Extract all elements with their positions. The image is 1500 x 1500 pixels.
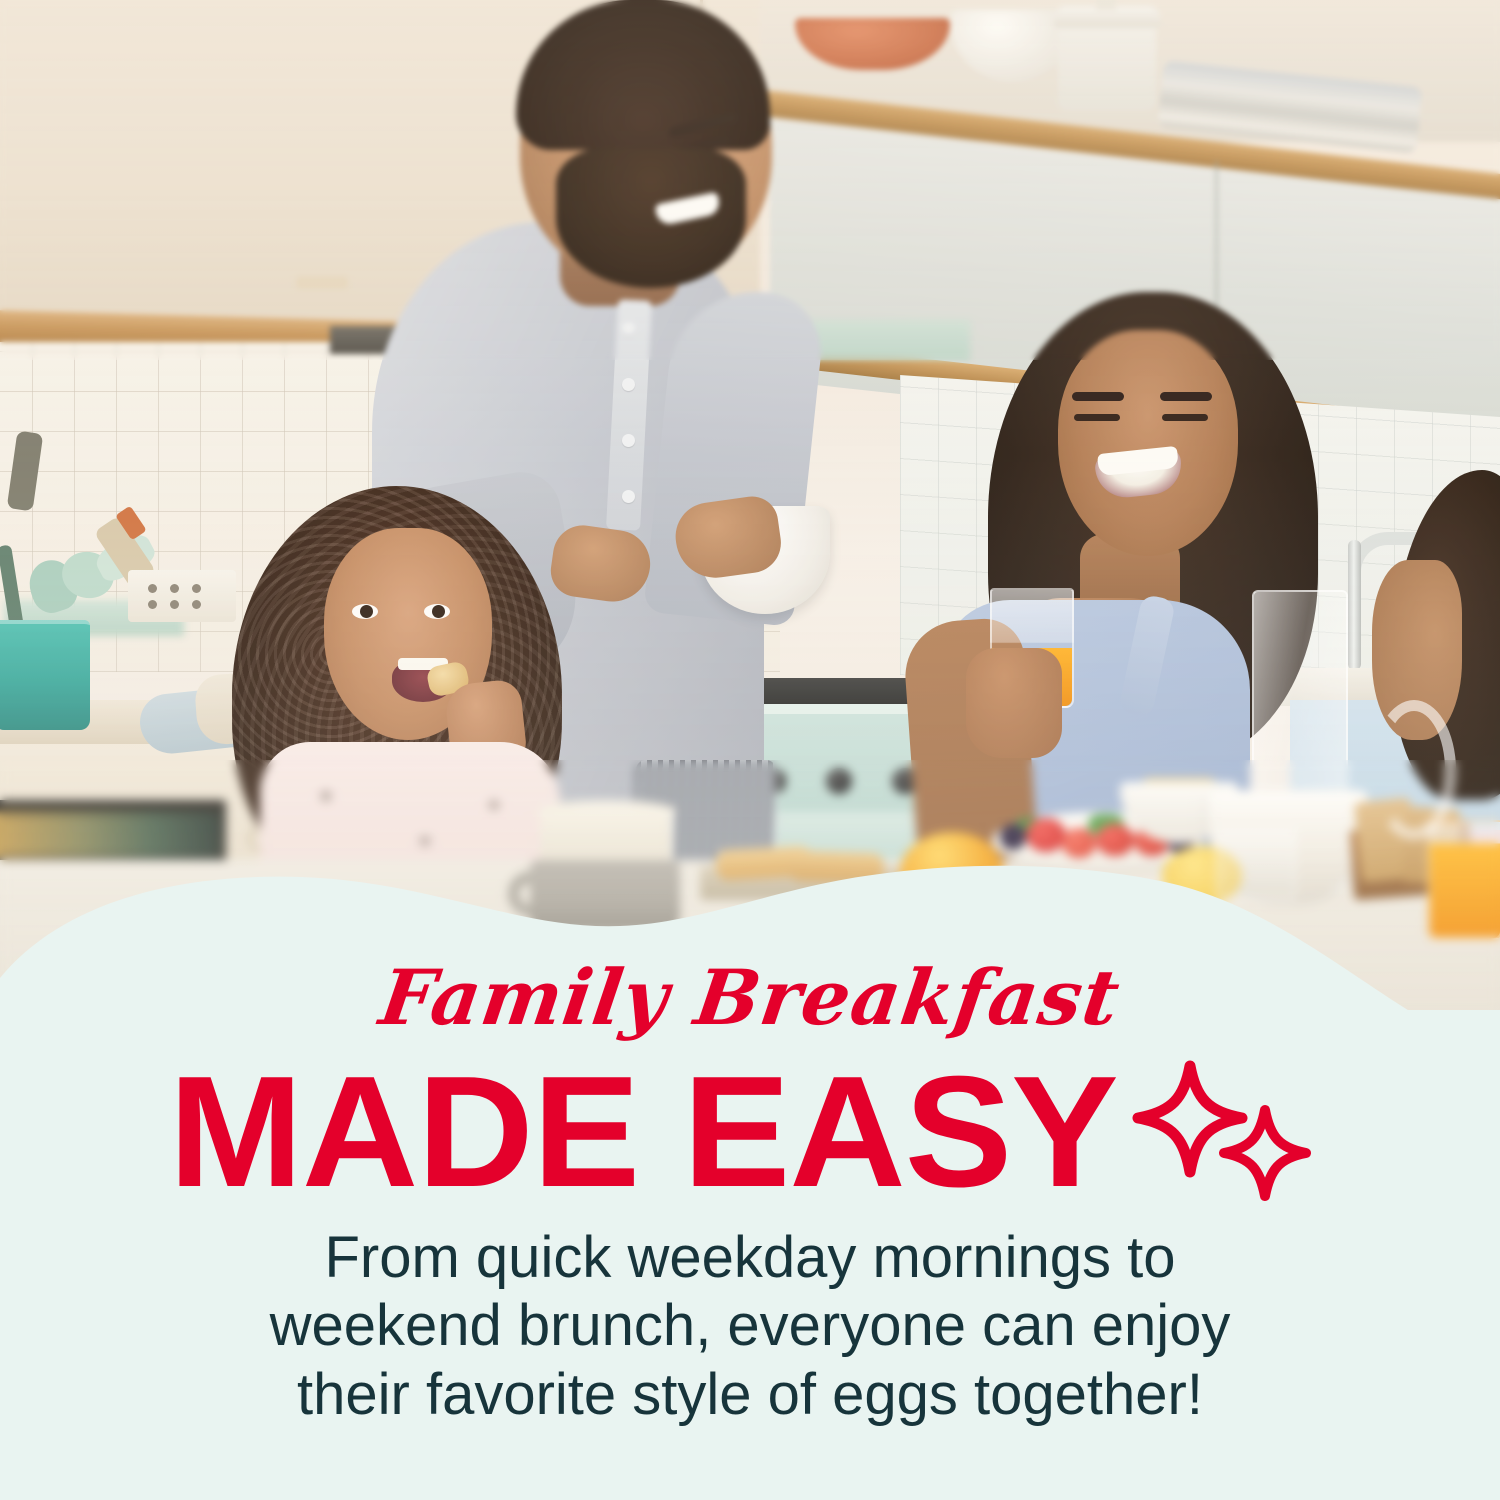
- dishwasher-reflection: [0, 812, 220, 858]
- gray-mug-icon: [530, 860, 680, 932]
- faucet-neck: [1348, 540, 1361, 670]
- shirt-button: [622, 322, 635, 335]
- toast-icon: [788, 850, 885, 883]
- orange-juice-glass-2: [1428, 820, 1500, 940]
- shirt-button: [622, 434, 635, 447]
- body-line-1: From quick weekday mornings to: [0, 1224, 1500, 1292]
- wall-outlet: [128, 570, 236, 622]
- daughter-pupil: [360, 605, 373, 618]
- body-copy: From quick weekday mornings to weekend b…: [0, 1224, 1500, 1429]
- headline-row: MADE EASY: [0, 1058, 1500, 1208]
- mother-face: [1058, 330, 1238, 556]
- small-glass: [1216, 828, 1296, 900]
- shirt-button: [622, 378, 635, 391]
- body-line-3: their favorite style of eggs together!: [0, 1361, 1500, 1429]
- mother-brow: [1072, 392, 1124, 401]
- shirt-button: [622, 490, 635, 503]
- page-title: MADE EASY: [169, 1060, 1118, 1205]
- promo-copy-block: Family Breakfast MADE EASY From quick we…: [0, 960, 1500, 1429]
- body-line-2: weekend brunch, everyone can enjoy: [0, 1292, 1500, 1360]
- mother-brow: [1160, 392, 1212, 401]
- jar-knob: [1096, 0, 1116, 10]
- eyebrow-script-text: Family Breakfast: [0, 960, 1500, 1036]
- cabinet-handle: [296, 276, 348, 289]
- teal-utensil-crock: [0, 620, 90, 730]
- mother-eye: [1074, 414, 1120, 421]
- mother-eye: [1162, 414, 1208, 421]
- pitcher-handle: [1372, 700, 1456, 840]
- kitchen-breakfast-photo: [0, 0, 1500, 1010]
- daughter-pupil: [432, 605, 445, 618]
- stove-knob-icon: [826, 768, 852, 794]
- sparkle-icon: [1132, 1058, 1322, 1208]
- father-beard: [556, 148, 746, 288]
- mother-hand: [966, 648, 1062, 758]
- orange-fruit-icon: [900, 832, 1004, 914]
- promo-banner: Family Breakfast MADE EASY From quick we…: [0, 0, 1500, 1500]
